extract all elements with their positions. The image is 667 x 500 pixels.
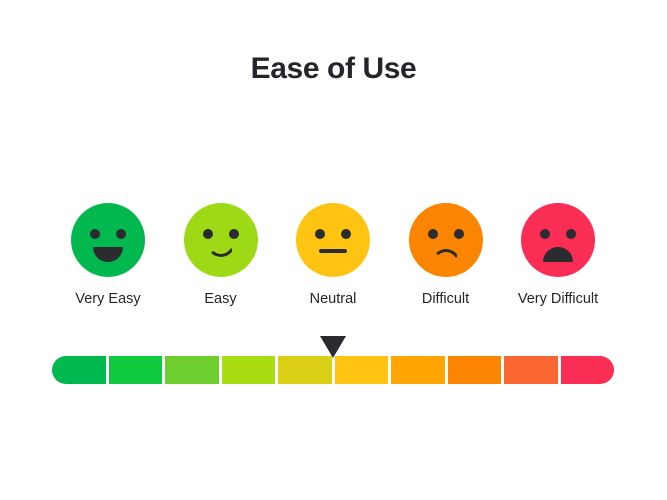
scale-segment-8[interactable] xyxy=(448,356,502,384)
rating-option-neutral[interactable]: Neutral xyxy=(277,203,389,307)
scale-segment-3[interactable] xyxy=(165,356,219,384)
eye-left-icon xyxy=(428,229,438,239)
scale-segment-2[interactable] xyxy=(109,356,163,384)
rating-label-very-easy: Very Easy xyxy=(75,291,140,307)
scale-segment-4[interactable] xyxy=(222,356,276,384)
rating-scale[interactable] xyxy=(52,356,614,384)
eye-right-icon xyxy=(341,229,351,239)
eye-left-icon xyxy=(540,229,550,239)
rating-option-easy[interactable]: Easy xyxy=(165,203,277,307)
eye-right-icon xyxy=(566,229,576,239)
smiley-very-happy-icon xyxy=(71,203,145,277)
mouth-smile-icon xyxy=(207,243,235,257)
rating-label-difficult: Difficult xyxy=(422,291,469,307)
mouth-open-grin-icon xyxy=(93,247,123,262)
rating-label-easy: Easy xyxy=(204,291,236,307)
eye-right-icon xyxy=(454,229,464,239)
eye-right-icon xyxy=(229,229,239,239)
smiley-sad-icon xyxy=(409,203,483,277)
rating-faces-row: Very Easy Easy Neutral Dif xyxy=(52,203,614,313)
rating-label-very-difficult: Very Difficult xyxy=(518,291,598,307)
mouth-flat-icon xyxy=(319,249,347,253)
eye-left-icon xyxy=(315,229,325,239)
triangle-down-marker-icon[interactable] xyxy=(320,336,346,358)
scale-segment-1[interactable] xyxy=(52,356,106,384)
scale-segment-9[interactable] xyxy=(504,356,558,384)
ease-of-use-infographic: Ease of Use Very Easy Easy xyxy=(0,0,667,500)
scale-segment-7[interactable] xyxy=(391,356,445,384)
eye-left-icon xyxy=(203,229,213,239)
rating-option-very-difficult[interactable]: Very Difficult xyxy=(502,203,614,307)
rating-option-very-easy[interactable]: Very Easy xyxy=(52,203,164,307)
scale-segment-6[interactable] xyxy=(335,356,389,384)
smiley-neutral-icon xyxy=(296,203,370,277)
rating-label-neutral: Neutral xyxy=(310,291,357,307)
scale-segment-track[interactable] xyxy=(52,356,614,384)
scale-segment-5[interactable] xyxy=(278,356,332,384)
smiley-very-sad-icon xyxy=(521,203,595,277)
scale-segment-10[interactable] xyxy=(561,356,615,384)
mouth-open-frown-icon xyxy=(543,247,573,262)
mouth-frown-icon xyxy=(432,249,460,263)
eye-left-icon xyxy=(90,229,100,239)
rating-option-difficult[interactable]: Difficult xyxy=(390,203,502,307)
smiley-happy-icon xyxy=(184,203,258,277)
page-title: Ease of Use xyxy=(0,52,667,86)
eye-right-icon xyxy=(116,229,126,239)
